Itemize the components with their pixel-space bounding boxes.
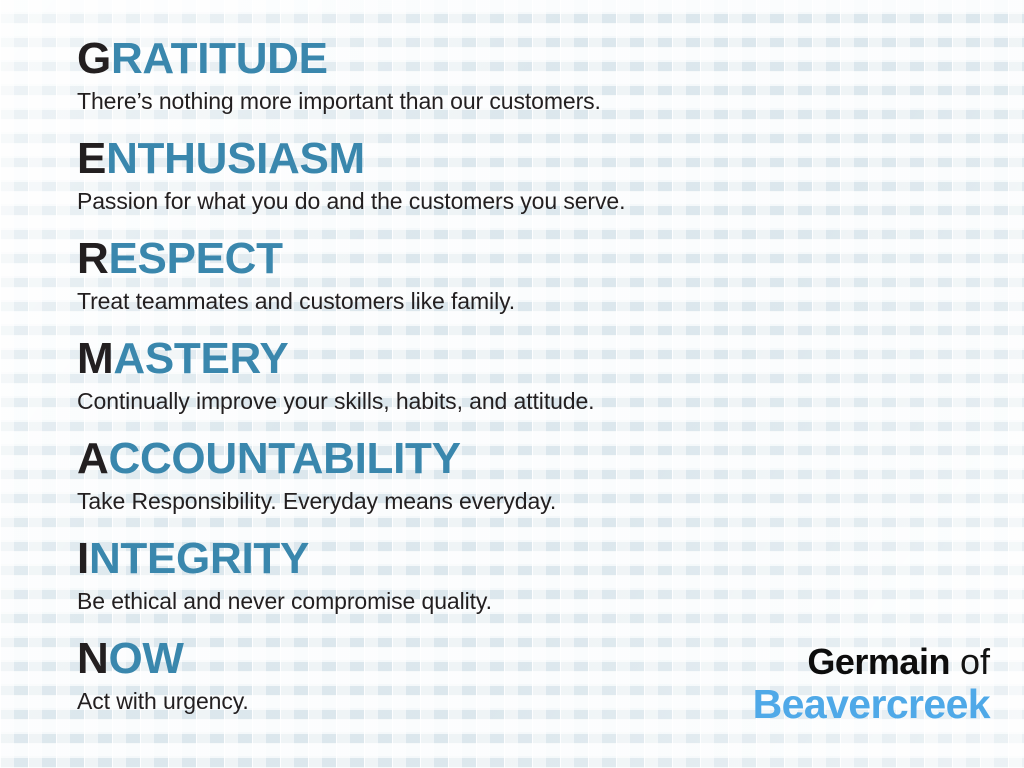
value-initial-letter: A [77, 434, 108, 483]
value-initial-letter: E [77, 134, 106, 183]
value-description-respect: Treat teammates and customers like famil… [77, 284, 977, 318]
value-description-integrity: Be ethical and never compromise quality. [77, 584, 977, 618]
value-remaining-letters: CCOUNTABILITY [108, 434, 460, 483]
value-remaining-letters: ESPECT [108, 234, 282, 283]
value-heading-mastery: MASTERY [77, 334, 977, 384]
value-heading-respect: RESPECT [77, 234, 977, 284]
logo-location-name: Beavercreek [753, 682, 990, 726]
core-values-poster: GRATITUDE There’s nothing more important… [0, 0, 1024, 768]
value-block-gratitude: GRATITUDE There’s nothing more important… [77, 34, 977, 134]
value-initial-letter: N [77, 634, 108, 683]
value-remaining-letters: NTHUSIASM [106, 134, 365, 183]
value-heading-integrity: INTEGRITY [77, 534, 977, 584]
value-block-mastery: MASTERY Continually improve your skills,… [77, 334, 977, 434]
value-block-integrity: INTEGRITY Be ethical and never compromis… [77, 534, 977, 634]
value-remaining-letters: OW [108, 634, 183, 683]
value-description-gratitude: There’s nothing more important than our … [77, 84, 977, 118]
dealership-logo: Germain of Beavercreek [753, 642, 990, 726]
value-remaining-letters: ASTERY [113, 334, 288, 383]
value-block-accountability: ACCOUNTABILITY Take Responsibility. Ever… [77, 434, 977, 534]
value-initial-letter: I [77, 534, 89, 583]
value-heading-gratitude: GRATITUDE [77, 34, 977, 84]
logo-line-primary: Germain of [753, 642, 990, 682]
value-heading-accountability: ACCOUNTABILITY [77, 434, 977, 484]
value-block-respect: RESPECT Treat teammates and customers li… [77, 234, 977, 334]
logo-brand-name: Germain [807, 641, 950, 682]
value-initial-letter: R [77, 234, 108, 283]
value-remaining-letters: NTEGRITY [89, 534, 309, 583]
core-values-list: GRATITUDE There’s nothing more important… [77, 34, 977, 734]
value-heading-enthusiasm: ENTHUSIASM [77, 134, 977, 184]
value-description-accountability: Take Responsibility. Everyday means ever… [77, 484, 977, 518]
logo-connector-word: of [960, 641, 990, 682]
value-description-enthusiasm: Passion for what you do and the customer… [77, 184, 977, 218]
value-remaining-letters: RATITUDE [111, 34, 328, 83]
value-initial-letter: G [77, 34, 111, 83]
value-block-enthusiasm: ENTHUSIASM Passion for what you do and t… [77, 134, 977, 234]
value-initial-letter: M [77, 334, 113, 383]
value-description-mastery: Continually improve your skills, habits,… [77, 384, 977, 418]
